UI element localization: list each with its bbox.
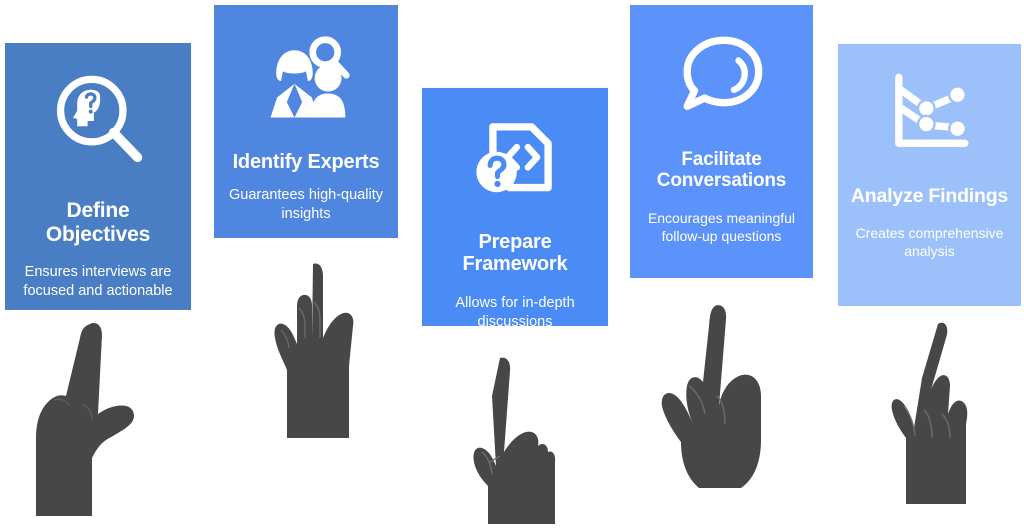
step-card-title: Identify Experts [233, 151, 380, 173]
pointing-hand-icon [460, 356, 582, 531]
pointing-hand-icon [22, 318, 182, 526]
step-card-title: Analyze Findings [851, 186, 1008, 208]
step-card-description: Allows for in-depth discussions [434, 294, 596, 332]
step-card-title: Define Objectives [15, 199, 181, 246]
people-search-icon [256, 33, 356, 129]
scatter-chart-icon [884, 70, 976, 158]
step-card-define-objectives[interactable]: Define Objectives Ensures interviews are… [5, 43, 191, 310]
step-card-identify-experts[interactable]: Identify Experts Guarantees high-quality… [214, 5, 398, 238]
pointing-hand-icon [263, 258, 381, 448]
pointing-hand-icon [655, 300, 783, 507]
speech-bubble-icon [676, 33, 768, 121]
step-card-description: Guarantees high-quality insights [226, 186, 386, 224]
infographic-canvas: Define Objectives Ensures interviews are… [0, 0, 1024, 531]
step-card-title: Prepare Framework [434, 231, 596, 276]
document-code-question-icon [469, 114, 561, 206]
head-question-magnifier-icon [46, 69, 150, 173]
step-card-facilitate-conversations[interactable]: Facilitate Conversations Encourages mean… [630, 5, 813, 278]
step-card-description: Creates comprehensive analysis [850, 224, 1009, 260]
step-card-analyze-findings[interactable]: Analyze Findings Creates comprehensive a… [838, 44, 1021, 306]
step-card-title: Facilitate Conversations [642, 149, 801, 192]
step-card-description: Ensures interviews are focused and actio… [15, 263, 181, 301]
step-card-prepare-framework[interactable]: Prepare Framework Allows for in-depth di… [422, 88, 608, 326]
pointing-hand-icon [880, 318, 990, 518]
step-card-description: Encourages meaningful follow-up question… [642, 209, 801, 245]
